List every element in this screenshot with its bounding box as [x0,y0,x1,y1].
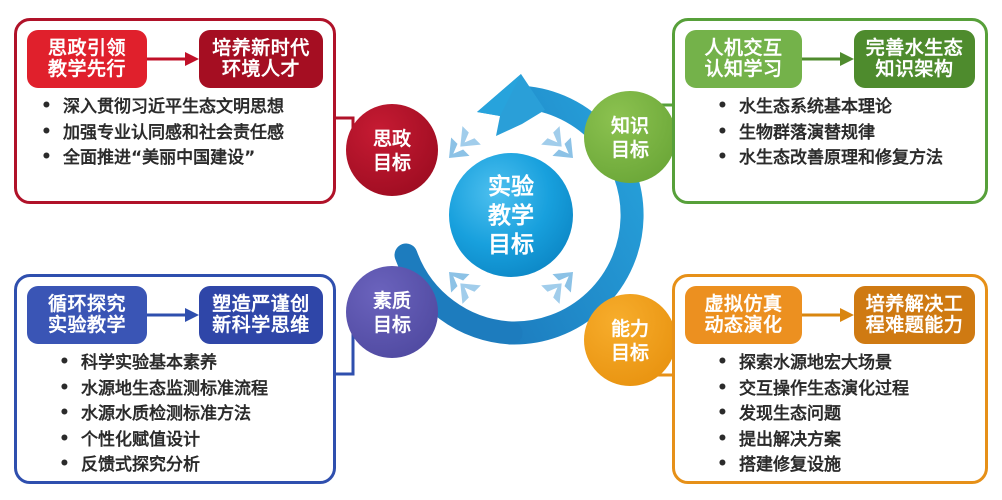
pill-knowledge-from[interactable]: 人机交互 认知学习 [685,30,802,88]
node-quality-line2: 目标 [373,314,411,336]
panel-knowledge-bullets: 水生态系统基本理论 生物群落演替规律 水生态改善原理和修复方法 [709,95,975,172]
panel-quality: 循环探究 实验教学 塑造严谨创 新科学思维 科学实验基本素养 水源地生态监测标准… [14,274,336,484]
panel-ability-header: 虚拟仿真 动态演化 培养解决工 程难题能力 [685,286,975,344]
list-item: 探索水源地宏大场景 [709,351,975,377]
list-item: 水源水质检测标准方法 [51,402,323,428]
node-ideology[interactable]: 思政 目标 [346,104,438,196]
panel-quality-header: 循环探究 实验教学 塑造严谨创 新科学思维 [27,286,323,344]
core-label-line2: 教学 [488,202,534,229]
pill-knowledge-from-line2: 认知学习 [705,59,783,80]
pill-ideology-to[interactable]: 培养新时代 环境人才 [199,30,323,88]
panel-ability-bullets: 探索水源地宏大场景 交互操作生态演化过程 发现生态问题 提出解决方案 搭建修复设… [709,351,975,479]
list-item: 个性化赋值设计 [51,428,323,454]
pill-ability-to[interactable]: 培养解决工 程难题能力 [854,286,975,344]
list-item: 搭建修复设施 [709,453,975,479]
core-label-line3: 目标 [488,232,534,258]
pill-ideology-to-line1: 培养新时代 [212,38,310,59]
node-ability[interactable]: 能力 目标 [584,294,676,386]
pill-quality-from[interactable]: 循环探究 实验教学 [27,286,147,344]
pill-quality-to-line1: 塑造严谨创 [212,294,310,315]
panel-ideology-header: 思政引领 教学先行 培养新时代 环境人才 [27,30,323,88]
pill-ideology-from-line1: 思政引领 [48,38,126,59]
pill-knowledge-to-line1: 完善水生态 [866,38,964,59]
pill-quality-to[interactable]: 塑造严谨创 新科学思维 [199,286,323,344]
arrow-ideology-icon [147,30,199,88]
node-knowledge-line1: 知识 [611,114,649,137]
list-item: 深入贯彻习近平生态文明思想 [33,95,323,121]
pill-knowledge-to[interactable]: 完善水生态 知识架构 [854,30,975,88]
node-ability-line1: 能力 [611,317,649,340]
list-item: 水源地生态监测标准流程 [51,377,323,403]
panel-ideology: 思政引领 教学先行 培养新时代 环境人才 深入贯彻习近平生态文明思想 加强专业认… [14,18,336,204]
panel-ideology-bullets: 深入贯彻习近平生态文明思想 加强专业认同感和社会责任感 全面推进“美丽中国建设” [33,95,323,172]
diagram-canvas: 实验 教学 目标 思政 目标 知识 目标 素质 目标 [0,0,1002,500]
panel-quality-bullets: 科学实验基本素养 水源地生态监测标准流程 水源水质检测标准方法 个性化赋值设计 … [51,351,323,479]
goal-hub: 实验 教学 目标 思政 目标 知识 目标 素质 目标 [346,50,676,390]
core-label-line1: 实验 [488,173,534,200]
list-item: 水生态改善原理和修复方法 [709,146,975,172]
node-knowledge-line2: 目标 [611,139,649,161]
pill-ability-to-line1: 培养解决工 [866,294,964,315]
arrow-knowledge-icon [802,30,854,88]
panel-ability: 虚拟仿真 动态演化 培养解决工 程难题能力 探索水源地宏大场景 交互操作生态演化… [672,274,988,484]
arrow-quality-icon [147,286,199,344]
arrow-ability-icon [802,286,854,344]
list-item: 加强专业认同感和社会责任感 [33,121,323,147]
list-item: 生物群落演替规律 [709,121,975,147]
node-quality-line1: 素质 [373,289,411,312]
node-ideology-line1: 思政 [373,127,412,150]
list-item: 发现生态问题 [709,402,975,428]
pill-ideology-from-line2: 教学先行 [48,59,126,80]
pill-ability-from-line1: 虚拟仿真 [705,294,783,315]
list-item: 反馈式探究分析 [51,453,323,479]
list-item: 交互操作生态演化过程 [709,377,975,403]
pill-ability-to-line2: 程难题能力 [866,315,964,336]
node-knowledge[interactable]: 知识 目标 [584,91,676,183]
list-item: 提出解决方案 [709,428,975,454]
list-item: 水生态系统基本理论 [709,95,975,121]
pill-ideology-from[interactable]: 思政引领 教学先行 [27,30,147,88]
pill-knowledge-to-line2: 知识架构 [876,59,954,80]
pill-quality-from-line2: 实验教学 [48,315,126,336]
panel-knowledge: 人机交互 认知学习 完善水生态 知识架构 水生态系统基本理论 生物群落演替规律 … [672,18,988,204]
pill-knowledge-from-line1: 人机交互 [705,38,783,59]
pill-quality-to-line2: 新科学思维 [212,315,310,336]
pill-ability-from-line2: 动态演化 [705,315,783,336]
pill-ideology-to-line2: 环境人才 [222,59,300,80]
pill-ability-from[interactable]: 虚拟仿真 动态演化 [685,286,802,344]
pill-quality-from-line1: 循环探究 [48,294,126,315]
list-item: 全面推进“美丽中国建设” [33,146,323,172]
node-quality[interactable]: 素质 目标 [346,266,438,358]
panel-knowledge-header: 人机交互 认知学习 完善水生态 知识架构 [685,30,975,88]
list-item: 科学实验基本素养 [51,351,323,377]
node-ability-line2: 目标 [611,342,649,364]
node-ideology-line2: 目标 [373,152,411,174]
